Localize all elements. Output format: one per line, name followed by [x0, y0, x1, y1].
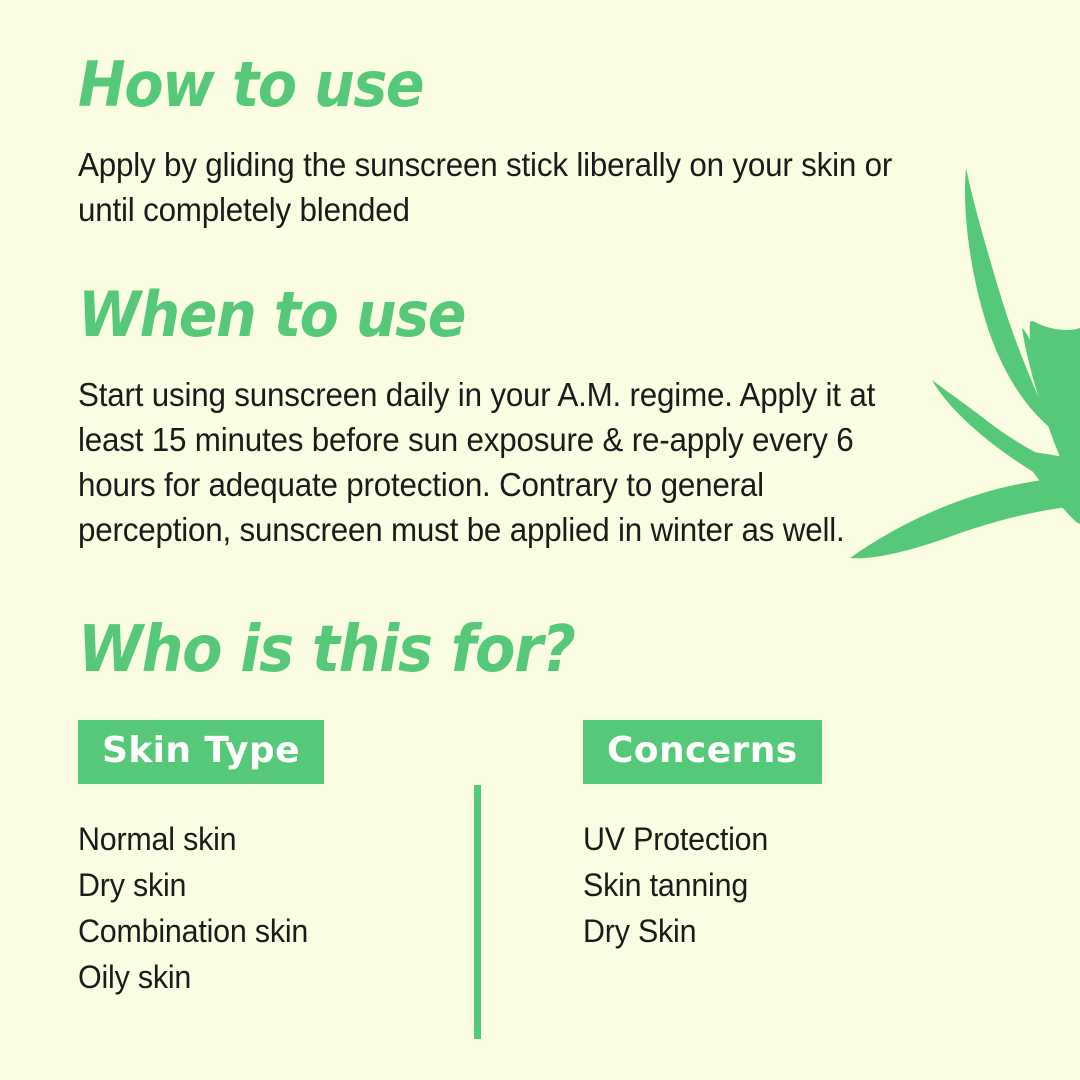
content-area: How to use Apply by gliding the sunscree…	[78, 40, 1018, 1000]
heading-when-to-use: When to use	[78, 284, 943, 346]
list-item: Dry skin	[78, 862, 453, 908]
audience-columns: Skin Type Normal skin Dry skin Combinati…	[78, 720, 978, 1000]
list-item: Skin tanning	[583, 862, 958, 908]
paragraph-when-to-use: Start using sunscreen daily in your A.M.…	[78, 372, 914, 552]
badge-concerns: Concerns	[583, 720, 822, 784]
list-skin-type: Normal skin Dry skin Combination skin Oi…	[78, 816, 473, 1000]
heading-who-is-this-for: Who is this for?	[78, 618, 943, 682]
list-item: Oily skin	[78, 954, 453, 1000]
column-skin-type: Skin Type Normal skin Dry skin Combinati…	[78, 720, 473, 1000]
infographic-page: How to use Apply by gliding the sunscree…	[0, 0, 1080, 1080]
column-divider	[474, 785, 481, 1039]
list-item: Combination skin	[78, 908, 453, 954]
column-concerns: Concerns UV Protection Skin tanning Dry …	[583, 720, 978, 1000]
heading-how-to-use: How to use	[78, 54, 943, 116]
list-item: Dry Skin	[583, 908, 958, 954]
list-item: UV Protection	[583, 816, 958, 862]
badge-skin-type: Skin Type	[78, 720, 324, 784]
list-concerns: UV Protection Skin tanning Dry Skin	[583, 816, 978, 954]
paragraph-how-to-use: Apply by gliding the sunscreen stick lib…	[78, 142, 914, 232]
list-item: Normal skin	[78, 816, 453, 862]
